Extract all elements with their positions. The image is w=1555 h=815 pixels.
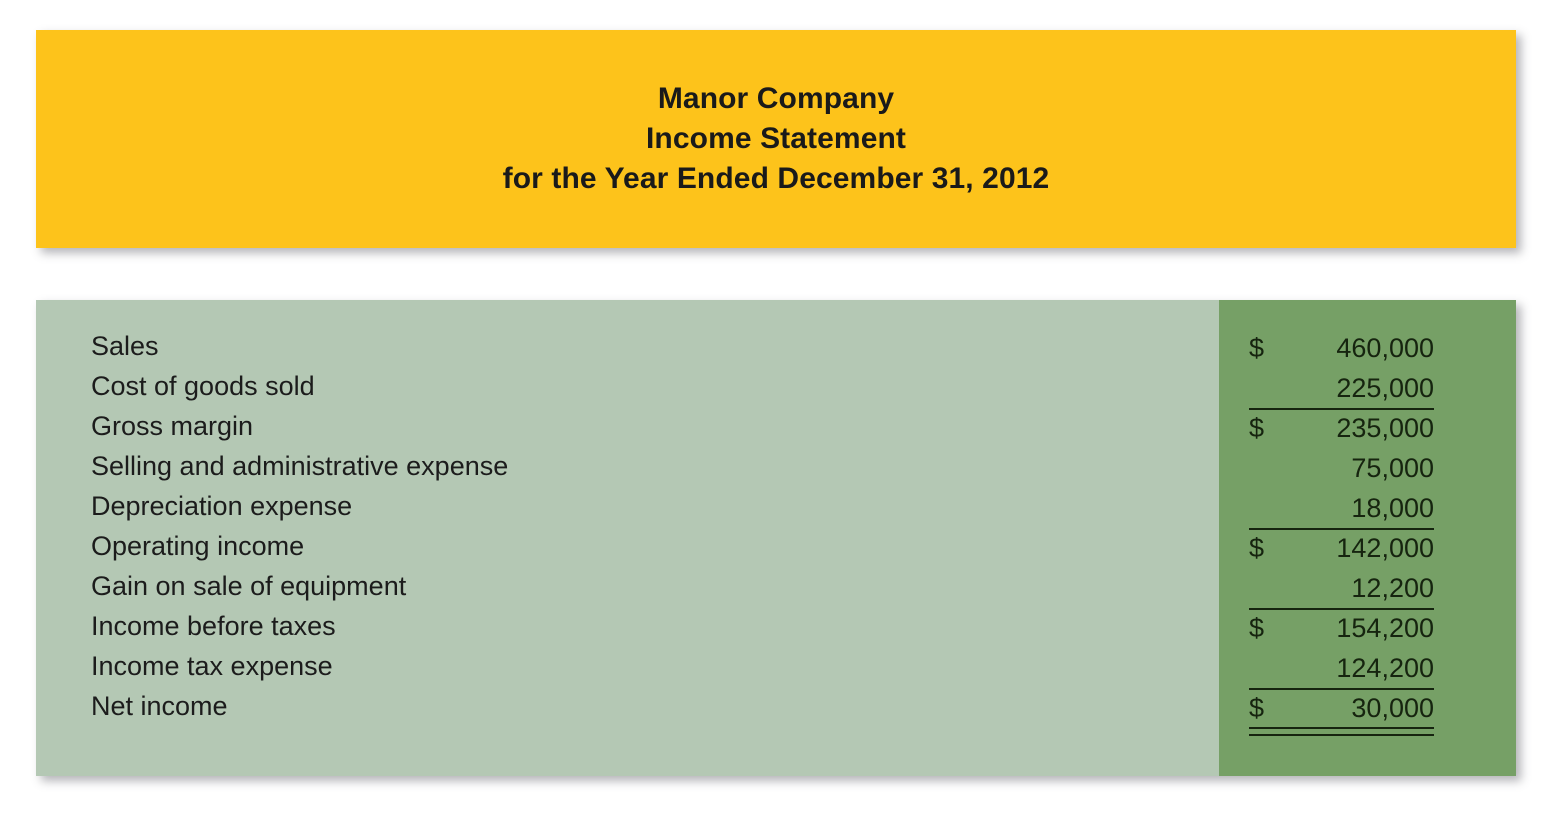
statement-row-value-cell: $142,000 (1249, 531, 1434, 564)
statement-row-label: Gross margin (36, 411, 253, 442)
statement-row-label: Income tax expense (36, 651, 333, 682)
statement-row-value: 12,200 (1249, 571, 1434, 604)
statement-row-amount: 75,000 (1351, 453, 1434, 484)
statement-row-label: Sales (36, 331, 159, 362)
statement-row-value-cell: 124,200 (1249, 651, 1434, 684)
statement-row-value: $235,000 (1249, 411, 1434, 444)
statement-row: Net income$30,000 (36, 691, 1516, 731)
statement-row-amount: 225,000 (1336, 373, 1434, 404)
statement-row-value: 225,000 (1249, 371, 1434, 404)
currency-symbol: $ (1249, 693, 1264, 724)
statement-row-value: $142,000 (1249, 531, 1434, 564)
statement-row-amount: 12,200 (1351, 573, 1434, 604)
statement-row-value: 18,000 (1249, 491, 1434, 524)
statement-row-label: Depreciation expense (36, 491, 352, 522)
statement-row-label: Cost of goods sold (36, 371, 315, 402)
statement-row-value: 75,000 (1249, 451, 1434, 484)
statement-row: Depreciation expense18,000 (36, 491, 1516, 531)
statement-title: Income Statement (646, 119, 906, 159)
statement-row-amount: 460,000 (1336, 333, 1434, 364)
statement-row-amount: 30,000 (1351, 693, 1434, 724)
statement-row-value-cell: 12,200 (1249, 571, 1434, 604)
statement-row: Sales$460,000 (36, 331, 1516, 371)
statement-row-value-cell: $154,200 (1249, 611, 1434, 644)
statement-row-label: Income before taxes (36, 611, 336, 642)
statement-period: for the Year Ended December 31, 2012 (503, 159, 1050, 199)
statement-row-label: Operating income (36, 531, 304, 562)
currency-symbol: $ (1249, 613, 1264, 644)
statement-row-value-cell: 225,000 (1249, 371, 1434, 404)
statement-row-amount: 18,000 (1351, 493, 1434, 524)
statement-row-label: Selling and administrative expense (36, 451, 508, 482)
statement-row-amount: 142,000 (1336, 533, 1434, 564)
currency-symbol: $ (1249, 413, 1264, 444)
statement-row-value-cell: $235,000 (1249, 411, 1434, 444)
statement-row-amount: 154,200 (1336, 613, 1434, 644)
currency-symbol: $ (1249, 533, 1264, 564)
statement-row-value-cell: $460,000 (1249, 331, 1434, 364)
statement-row-label: Gain on sale of equipment (36, 571, 406, 602)
statement-row: Income before taxes$154,200 (36, 611, 1516, 651)
statement-row-value-cell: 75,000 (1249, 451, 1434, 484)
statement-row-value: $460,000 (1249, 331, 1434, 364)
statement-header-panel: Manor Company Income Statement for the Y… (36, 30, 1516, 248)
statement-row: Operating income$142,000 (36, 531, 1516, 571)
statement-row-value-cell: $30,000 (1249, 691, 1434, 724)
statement-rows: Sales$460,000Cost of goods sold225,000Gr… (36, 300, 1516, 731)
statement-row: Income tax expense124,200 (36, 651, 1516, 691)
statement-row: Selling and administrative expense75,000 (36, 451, 1516, 491)
statement-row-value-cell: 18,000 (1249, 491, 1434, 524)
statement-row-amount: 235,000 (1336, 413, 1434, 444)
statement-row: Gross margin$235,000 (36, 411, 1516, 451)
company-name: Manor Company (658, 79, 894, 119)
currency-symbol: $ (1249, 333, 1264, 364)
statement-row-label: Net income (36, 691, 228, 722)
statement-row-value: $30,000 (1249, 691, 1434, 724)
income-statement-panel: Sales$460,000Cost of goods sold225,000Gr… (36, 300, 1516, 776)
statement-row-amount: 124,200 (1336, 653, 1434, 684)
statement-row-value: $154,200 (1249, 611, 1434, 644)
statement-row: Gain on sale of equipment12,200 (36, 571, 1516, 611)
statement-row: Cost of goods sold225,000 (36, 371, 1516, 411)
statement-row-value: 124,200 (1249, 651, 1434, 684)
